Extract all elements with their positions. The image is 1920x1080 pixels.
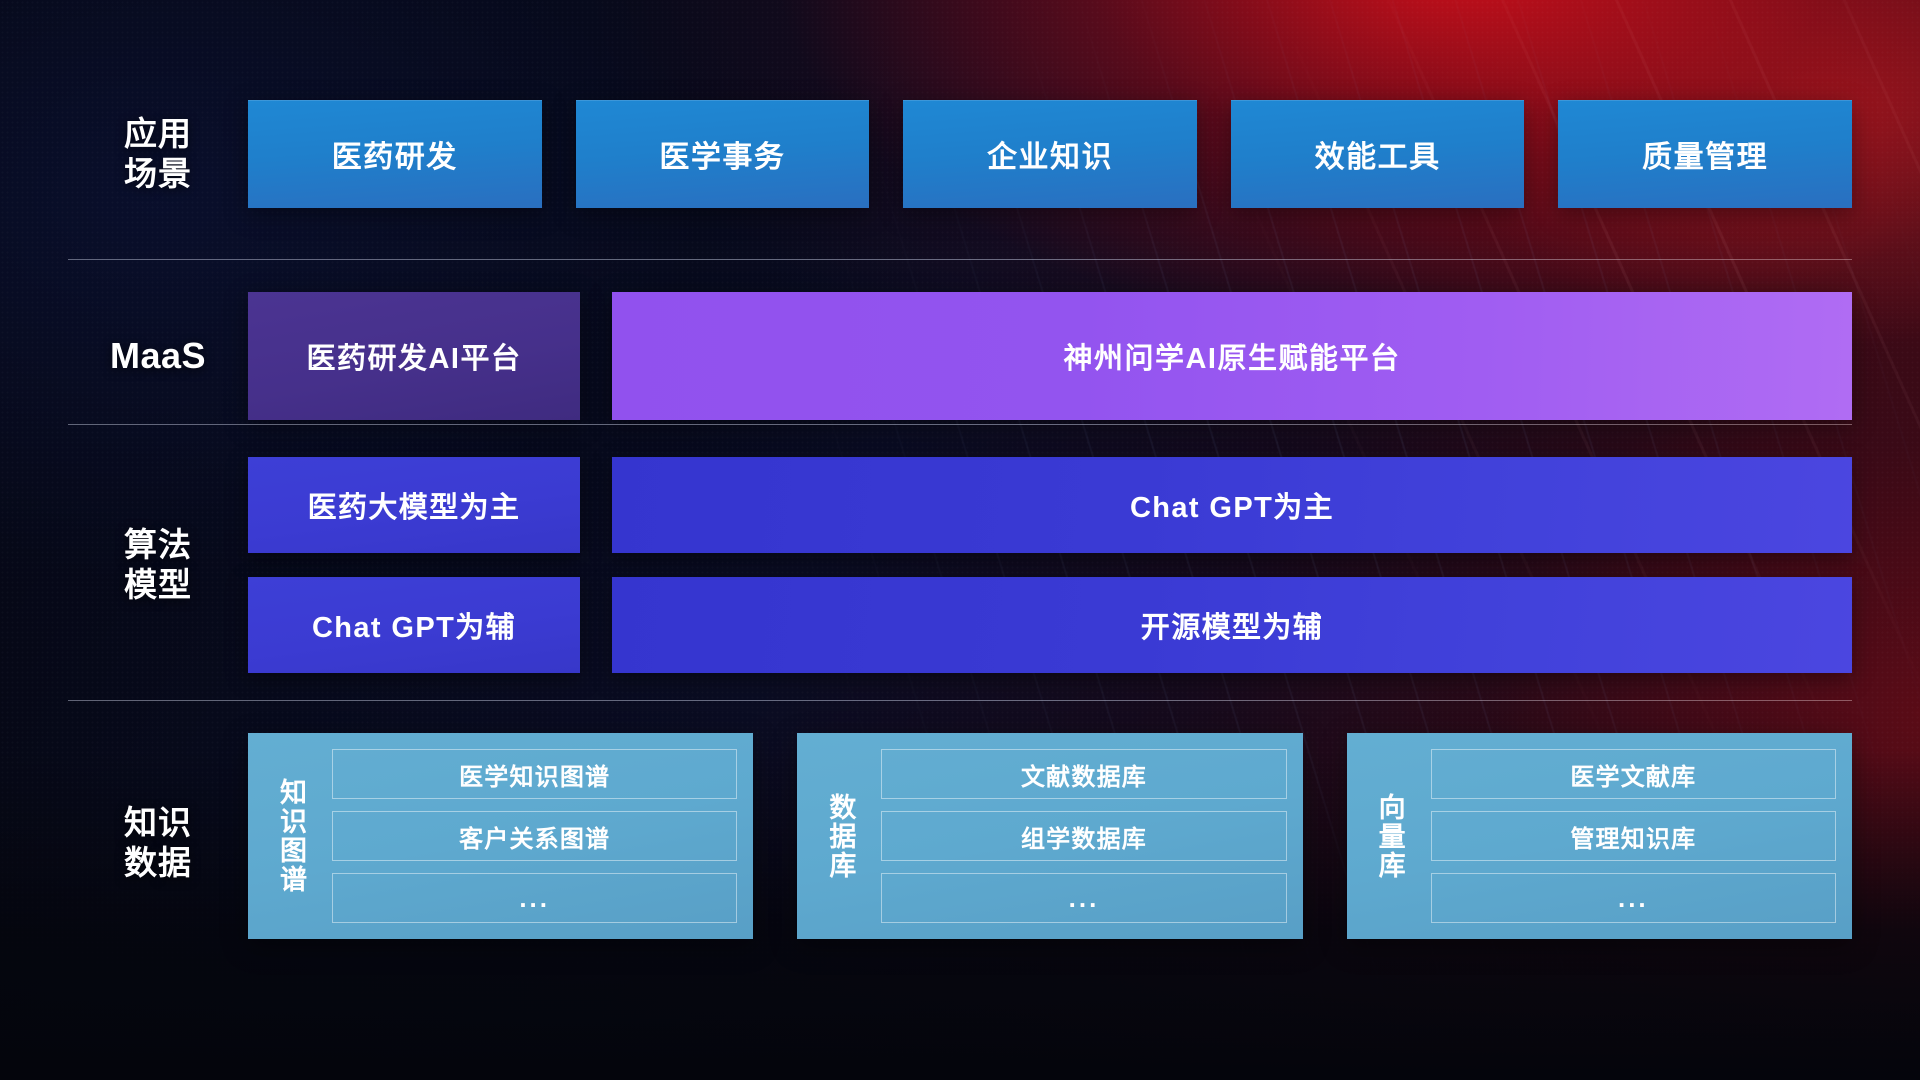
layer-label-application-scenario: 应用 场景	[68, 114, 248, 195]
architecture-layers: 应用 场景 医药研发 医学事务 企业知识 效能工具 质量管理 MaaS 医药研发…	[0, 0, 1920, 1080]
layer-label-algorithm-model: 算法 模型	[68, 525, 248, 606]
application-scenario-list: 医药研发 医学事务 企业知识 效能工具 质量管理	[248, 100, 1852, 208]
layer-label-knowledge-data: 知识 数据	[68, 803, 248, 884]
divider-scenario-maas	[68, 259, 1852, 260]
maas-list: 医药研发AI平台 神州问学AI原生赋能平台	[248, 292, 1852, 420]
algo-box-pharma-llm-primary[interactable]: 医药大模型为主	[248, 457, 580, 553]
algorithm-row-secondary: Chat GPT为辅 开源模型为辅	[248, 577, 1852, 673]
layer-knowledge-data: 知识 数据 知识图谱 医学知识图谱 客户关系图谱 ... 数据库	[68, 733, 1852, 939]
knowledge-item-customer-relation-graph[interactable]: 客户关系图谱	[332, 811, 737, 861]
layer-label-maas: MaaS	[68, 334, 248, 378]
maas-box-shenzhou-wenxue-platform[interactable]: 神州问学AI原生赋能平台	[612, 292, 1852, 420]
scenario-box-quality-management[interactable]: 质量管理	[1558, 100, 1852, 208]
algo-box-chatgpt-secondary[interactable]: Chat GPT为辅	[248, 577, 580, 673]
scenario-box-efficiency-tools[interactable]: 效能工具	[1231, 100, 1525, 208]
knowledge-items-vector: 医学文献库 管理知识库 ...	[1431, 749, 1836, 923]
knowledge-item-literature-database[interactable]: 文献数据库	[881, 749, 1286, 799]
knowledge-group-database[interactable]: 数据库 文献数据库 组学数据库 ...	[797, 733, 1302, 939]
knowledge-items-graph: 医学知识图谱 客户关系图谱 ...	[332, 749, 737, 923]
knowledge-group-graph[interactable]: 知识图谱 医学知识图谱 客户关系图谱 ...	[248, 733, 753, 939]
knowledge-item-medical-literature-library[interactable]: 医学文献库	[1431, 749, 1836, 799]
knowledge-group-title-graph: 知识图谱	[262, 749, 320, 923]
maas-body: 医药研发AI平台 神州问学AI原生赋能平台	[248, 292, 1852, 420]
layer-application-scenario: 应用 场景 医药研发 医学事务 企业知识 效能工具 质量管理	[68, 100, 1852, 208]
diagram-canvas: 应用 场景 医药研发 医学事务 企业知识 效能工具 质量管理 MaaS 医药研发…	[0, 0, 1920, 1080]
knowledge-group-title-database: 数据库	[811, 749, 869, 923]
algorithm-row-primary: 医药大模型为主 Chat GPT为主	[248, 457, 1852, 553]
knowledge-item-management-knowledge-library[interactable]: 管理知识库	[1431, 811, 1836, 861]
divider-algorithm-knowledge	[68, 700, 1852, 701]
scenario-box-medical-affairs[interactable]: 医学事务	[576, 100, 870, 208]
scenario-box-drug-rd[interactable]: 医药研发	[248, 100, 542, 208]
layer-maas: MaaS 医药研发AI平台 神州问学AI原生赋能平台	[68, 292, 1852, 420]
knowledge-item-omics-database[interactable]: 组学数据库	[881, 811, 1286, 861]
layer-algorithm-model: 算法 模型 医药大模型为主 Chat GPT为主 Chat GPT为辅 开源模型…	[68, 457, 1852, 673]
algo-box-chatgpt-primary[interactable]: Chat GPT为主	[612, 457, 1852, 553]
knowledge-items-database: 文献数据库 组学数据库 ...	[881, 749, 1286, 923]
knowledge-item-graph-more[interactable]: ...	[332, 873, 737, 923]
knowledge-item-vector-more[interactable]: ...	[1431, 873, 1836, 923]
scenario-box-enterprise-knowledge[interactable]: 企业知识	[903, 100, 1197, 208]
algorithm-model-body: 医药大模型为主 Chat GPT为主 Chat GPT为辅 开源模型为辅	[248, 457, 1852, 673]
knowledge-item-medical-knowledge-graph[interactable]: 医学知识图谱	[332, 749, 737, 799]
application-scenario-body: 医药研发 医学事务 企业知识 效能工具 质量管理	[248, 100, 1852, 208]
maas-box-drug-rd-ai-platform[interactable]: 医药研发AI平台	[248, 292, 580, 420]
knowledge-data-body: 知识图谱 医学知识图谱 客户关系图谱 ... 数据库 文献数据库 组学数据库 .…	[248, 733, 1852, 939]
knowledge-group-vector[interactable]: 向量库 医学文献库 管理知识库 ...	[1347, 733, 1852, 939]
algorithm-model-stack: 医药大模型为主 Chat GPT为主 Chat GPT为辅 开源模型为辅	[248, 457, 1852, 673]
knowledge-group-list: 知识图谱 医学知识图谱 客户关系图谱 ... 数据库 文献数据库 组学数据库 .…	[248, 733, 1852, 939]
knowledge-group-title-vector: 向量库	[1361, 749, 1419, 923]
algo-box-open-source-secondary[interactable]: 开源模型为辅	[612, 577, 1852, 673]
divider-maas-algorithm	[68, 424, 1852, 425]
knowledge-item-database-more[interactable]: ...	[881, 873, 1286, 923]
